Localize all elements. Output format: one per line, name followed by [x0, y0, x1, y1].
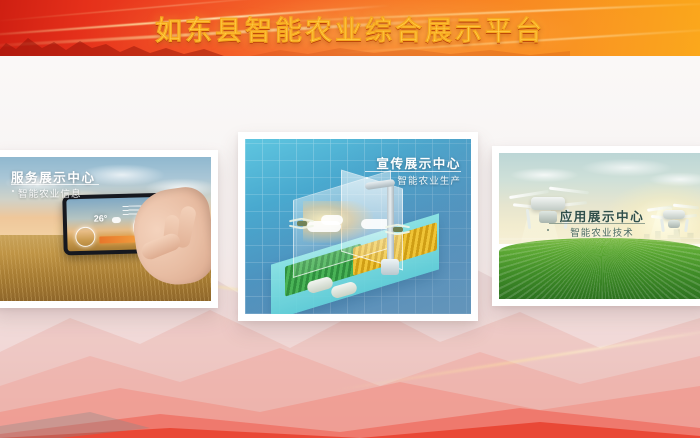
drone-icon — [385, 223, 415, 239]
card-subtitle-publicity: 智能农业生产 — [397, 173, 461, 187]
control-box — [381, 259, 399, 275]
title-underline — [365, 171, 461, 172]
drone-icon — [289, 217, 315, 231]
drone-body — [297, 221, 307, 226]
bullet-dot-icon — [12, 190, 14, 192]
title-underline — [11, 184, 99, 185]
crop-rows-texture — [499, 238, 700, 299]
sensor-pole — [387, 183, 394, 261]
application-card-photo: 应用展示中心 智能农业技术 — [499, 153, 700, 299]
bullet-dot-icon — [366, 177, 368, 179]
service-card-photo: 26° 服务展示中心 智能农业信息 — [0, 157, 211, 301]
card-publicity-display-center[interactable]: 宣传展示中心 智能农业生产 — [238, 132, 478, 321]
hud-ring-icon — [75, 227, 96, 248]
publicity-card-photo: 宣传展示中心 智能农业生产 — [245, 139, 471, 314]
rotor — [549, 187, 589, 194]
app-root: 如东县智能农业综合展示平台 — [0, 0, 700, 438]
cloud-icon — [111, 217, 120, 223]
cloud-icon — [321, 215, 343, 225]
drone-body — [393, 227, 403, 232]
hud-status-strip — [99, 236, 135, 244]
header-banner: 如东县智能农业综合展示平台 — [0, 0, 700, 56]
page-title: 如东县智能农业综合展示平台 — [0, 0, 700, 56]
card-subtitle-service: 智能农业信息 — [18, 186, 82, 200]
weather-temperature: 26° — [93, 214, 107, 224]
card-application-display-center[interactable]: 应用展示中心 智能农业技术 — [492, 146, 700, 306]
title-underline — [549, 223, 645, 224]
card-service-display-center[interactable]: 26° 服务展示中心 智能农业信息 — [0, 150, 218, 308]
card-subtitle-application: 智能农业技术 — [499, 225, 700, 239]
card-title-publicity: 宣传展示中心 — [376, 153, 461, 172]
